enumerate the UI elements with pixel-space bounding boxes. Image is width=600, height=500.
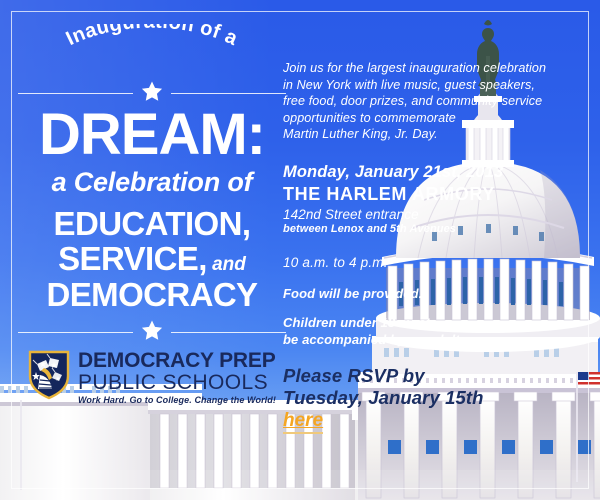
theme-lines: EDUCATION, SERVICE, and DEMOCRACY [18,206,286,313]
divider-rule-left [18,93,133,94]
blurb-line-2: in New York with live music, guest speak… [283,77,568,94]
rsvp-line-1: Please RSVP by [283,365,568,387]
theme-line-1: EDUCATION, [18,206,286,242]
blurb-line-4: opportunities to commemorate [283,110,568,127]
divider2-rule-left [18,332,133,333]
note-children: Children under 18 must be accompanied by… [283,314,568,348]
event-blurb: Join us for the largest inauguration cel… [283,60,568,143]
note-children-line-2: be accompanied by an adult. [283,331,568,348]
logo-line-1: DEMOCRACY PREP [78,350,276,371]
event-date: Monday, January 21st, 2013 [283,163,568,182]
blurb-line-5: Martin Luther King, Jr. Day. [283,126,568,143]
spacer [283,348,568,365]
logo-tagline: Work Hard. Go to College. Change the Wor… [78,396,276,405]
star-divider-bottom [18,322,286,344]
divider-rule-right [171,93,286,94]
event-venue: THE HARLEM ARMORY [283,184,568,205]
theme-line-3: DEMOCRACY [18,277,286,313]
rsvp-here-link[interactable]: here [283,411,323,434]
event-address-line-1: 142nd Street entrance [283,207,568,222]
divider2-rule-right [171,332,286,333]
arched-headline-text: Inauguration of a [63,24,242,50]
star-icon [141,319,163,346]
blurb-line-1: Join us for the largest inauguration cel… [283,60,568,77]
page-title: DREAM: [18,107,286,163]
svg-text:Inauguration of a: Inauguration of a [63,24,242,50]
subtitle: a Celebration of [18,167,286,198]
spacer [283,301,568,314]
note-food: Food will be provided. [283,286,568,301]
headline-column: Inauguration of a DREAM: a Celebration o… [18,14,286,405]
spacer [283,235,568,255]
logo-line-2: PUBLIC SCHOOLS [78,372,276,393]
rsvp-line-2: Tuesday, January 15th [283,387,568,409]
spacer [283,143,568,163]
inauguration-poster: Inauguration of a DREAM: a Celebration o… [0,0,600,500]
rsvp-heading: Please RSVP by Tuesday, January 15th [283,365,568,409]
event-time: 10 a.m. to 4 p.m. [283,255,568,270]
theme-line-2-suffix: and [207,254,246,275]
star-icon [141,80,163,107]
democracy-prep-logo[interactable]: DEMOCRACY PREP PUBLIC SCHOOLS Work Hard.… [18,350,286,405]
arched-headline: Inauguration of a [20,24,284,86]
star-divider-top [18,82,286,104]
shield-crest-icon [28,350,70,405]
note-children-line-1: Children under 18 must [283,314,568,331]
theme-line-2: SERVICE, and [18,241,286,277]
blurb-line-3: free food, door prizes, and community se… [283,93,568,110]
event-details-column: Join us for the largest inauguration cel… [283,60,568,434]
event-address-line-2: between Lenox and 5th Avenues [283,223,568,235]
logo-wordmark: DEMOCRACY PREP PUBLIC SCHOOLS Work Hard.… [78,350,276,405]
spacer [283,270,568,286]
